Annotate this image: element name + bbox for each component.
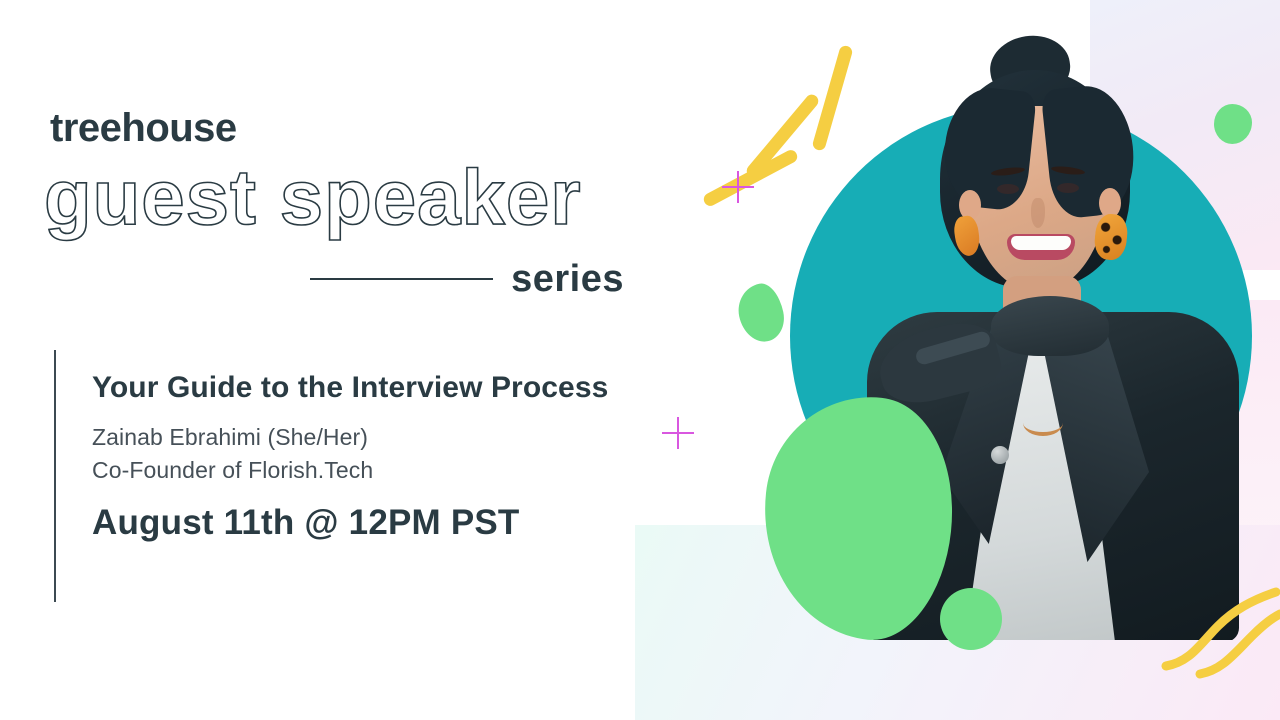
vertical-accent-rule <box>54 350 56 602</box>
talk-title: Your Guide to the Interview Process <box>92 368 632 407</box>
necklace <box>1023 410 1063 436</box>
green-blob-decoration <box>733 280 788 346</box>
series-label: series <box>511 260 624 298</box>
treehouse-wordmark: treehouse <box>50 108 237 148</box>
jacket-snap-stud <box>991 446 1009 464</box>
teeth <box>1011 236 1071 250</box>
nose <box>1031 198 1045 228</box>
promo-slide: treehouse guest speaker series Your Guid… <box>0 0 1280 720</box>
eye-left <box>997 184 1019 194</box>
content-column: treehouse guest speaker series Your Guid… <box>0 0 680 720</box>
event-details-block: Your Guide to the Interview Process Zain… <box>54 350 654 602</box>
event-details-body: Your Guide to the Interview Process Zain… <box>92 368 632 543</box>
smiling-mouth <box>1007 234 1075 260</box>
speaker-name: Zainab Ebrahimi (She/Her) <box>92 421 632 454</box>
jacket-collar <box>991 296 1109 356</box>
event-datetime: August 11th @ 12PM PST <box>92 504 632 543</box>
series-divider-rule <box>310 278 493 280</box>
yellow-wave-icon <box>1160 570 1280 680</box>
speaker-role: Co-Founder of Florish.Tech <box>92 454 632 487</box>
green-circle-decoration <box>940 588 1002 650</box>
series-row: series <box>310 256 624 302</box>
magenta-cross-icon <box>722 171 754 203</box>
eye-right <box>1057 183 1079 193</box>
headline-guest-speaker: guest speaker <box>44 158 582 236</box>
